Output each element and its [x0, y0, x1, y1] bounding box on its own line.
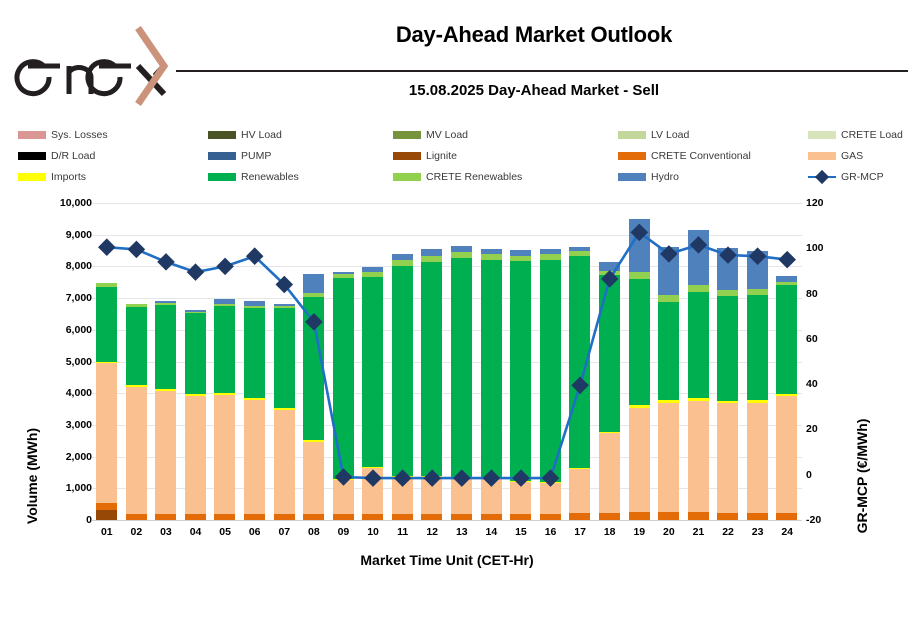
gr-mcp-marker[interactable] — [187, 263, 205, 281]
page-subtitle: 15.08.2025 Day-Ahead Market - Sell — [176, 82, 892, 99]
y2-axis-tick-label: -20 — [806, 514, 854, 526]
x-axis-tick-label: 11 — [388, 526, 418, 538]
x-axis-tick-label: 03 — [151, 526, 181, 538]
x-axis-tick-label: 24 — [772, 526, 802, 538]
legend-item-label: CRETE Conventional — [651, 150, 751, 162]
gridline — [92, 520, 802, 521]
x-axis-tick-label: 17 — [565, 526, 595, 538]
enex-logo — [14, 20, 174, 112]
legend-item-label: Imports — [51, 171, 86, 183]
legend-item-lv-load[interactable]: LV Load — [618, 126, 689, 143]
x-axis-tick-label: 02 — [122, 526, 152, 538]
gr-mcp-marker[interactable] — [778, 251, 796, 269]
y-axis-tick-label: 7,000 — [22, 292, 92, 304]
legend-item-lignite[interactable]: Lignite — [393, 147, 457, 164]
title-divider — [176, 70, 908, 72]
legend-item-sys-losses[interactable]: Sys. Losses — [18, 126, 108, 143]
gr-mcp-marker[interactable] — [483, 469, 501, 487]
y2-axis-tick-label: 120 — [806, 197, 854, 209]
legend-item-crete-load[interactable]: CRETE Load — [808, 126, 903, 143]
gr-mcp-marker[interactable] — [512, 469, 530, 487]
x-axis-label: Market Time Unit (CET-Hr) — [92, 552, 802, 568]
x-axis-tick-label: 07 — [270, 526, 300, 538]
y-axis-tick-label: 8,000 — [22, 260, 92, 272]
legend-item-label: GAS — [841, 150, 863, 162]
y-axis-tick-label: 5,000 — [22, 356, 92, 368]
x-axis-tick-label: 12 — [417, 526, 447, 538]
gr-mcp-marker[interactable] — [157, 253, 175, 271]
legend-item-gr-mcp[interactable]: GR-MCP — [808, 168, 884, 185]
legend-item-label: HV Load — [241, 129, 282, 141]
legend-item-label: D/R Load — [51, 150, 95, 162]
legend-line-marker-icon — [808, 172, 836, 182]
legend-item-imports[interactable]: Imports — [18, 168, 86, 185]
y-axis-tick-label: 9,000 — [22, 229, 92, 241]
gr-mcp-marker[interactable] — [216, 258, 234, 276]
y2-axis-label: GR-MCP (€/MWh) — [854, 326, 870, 626]
legend-item-pump[interactable]: PUMP — [208, 147, 271, 164]
page-title: Day-Ahead Market Outlook — [176, 22, 892, 48]
y-axis-tick-label: 4,000 — [22, 387, 92, 399]
x-axis-tick-label: 22 — [713, 526, 743, 538]
x-axis-tick-label: 21 — [684, 526, 714, 538]
legend-swatch-icon — [618, 152, 646, 160]
legend-item-label: CRETE Load — [841, 129, 903, 141]
gr-mcp-marker[interactable] — [128, 241, 146, 259]
y2-axis-tick-label: 80 — [806, 288, 854, 300]
legend-item-hv-load[interactable]: HV Load — [208, 126, 282, 143]
x-axis-tick-label: 13 — [447, 526, 477, 538]
gr-mcp-marker[interactable] — [98, 238, 116, 256]
legend-swatch-icon — [808, 131, 836, 139]
legend-item-d-r-load[interactable]: D/R Load — [18, 147, 95, 164]
legend-swatch-icon — [208, 131, 236, 139]
x-axis-tick-label: 19 — [625, 526, 655, 538]
y-axis-tick-label: 1,000 — [22, 482, 92, 494]
gr-mcp-marker[interactable] — [749, 247, 767, 265]
x-axis-tick-label: 18 — [595, 526, 625, 538]
legend-item-crete-renewables[interactable]: CRETE Renewables — [393, 168, 522, 185]
gr-mcp-marker[interactable] — [453, 469, 471, 487]
x-axis-tick-label: 06 — [240, 526, 270, 538]
legend-swatch-icon — [18, 131, 46, 139]
legend-item-renewables[interactable]: Renewables — [208, 168, 299, 185]
page-header: Day-Ahead Market Outlook 15.08.2025 Day-… — [0, 0, 908, 118]
y-axis-label: Volume (MWh) — [24, 326, 40, 626]
legend-swatch-icon — [393, 173, 421, 181]
x-axis-tick-label: 20 — [654, 526, 684, 538]
y2-axis-tick-label: 20 — [806, 423, 854, 435]
legend-item-mv-load[interactable]: MV Load — [393, 126, 468, 143]
legend-item-gas[interactable]: GAS — [808, 147, 863, 164]
x-axis-tick-label: 23 — [743, 526, 773, 538]
legend-item-label: CRETE Renewables — [426, 171, 522, 183]
y2-axis-tick-label: 60 — [806, 333, 854, 345]
gr-mcp-marker[interactable] — [423, 469, 441, 487]
legend-item-label: Renewables — [241, 171, 299, 183]
legend-swatch-icon — [618, 131, 646, 139]
y2-axis-tick-label: 0 — [806, 469, 854, 481]
y-axis-tick-label: 3,000 — [22, 419, 92, 431]
y-axis-tick-label: 6,000 — [22, 324, 92, 336]
legend-item-label: MV Load — [426, 129, 468, 141]
gr-mcp-marker[interactable] — [542, 469, 560, 487]
legend-swatch-icon — [18, 152, 46, 160]
x-axis-tick-label: 15 — [506, 526, 536, 538]
x-axis-tick-label: 09 — [329, 526, 359, 538]
x-axis-tick-label: 14 — [477, 526, 507, 538]
gr-mcp-line — [107, 232, 787, 478]
chart-plot-area: Volume (MWh) GR-MCP (€/MWh) 01,0002,0003… — [0, 190, 908, 540]
legend-item-label: Lignite — [426, 150, 457, 162]
gr-mcp-marker[interactable] — [601, 270, 619, 288]
legend-swatch-icon — [808, 152, 836, 160]
legend-swatch-icon — [393, 152, 421, 160]
gr-mcp-marker[interactable] — [335, 468, 353, 486]
y2-axis-tick-label: 100 — [806, 242, 854, 254]
legend-item-label: Hydro — [651, 171, 679, 183]
gr-mcp-line-series — [92, 190, 802, 520]
legend-swatch-icon — [618, 173, 646, 181]
legend-item-crete-conventional[interactable]: CRETE Conventional — [618, 147, 751, 164]
x-axis-tick-label: 10 — [358, 526, 388, 538]
legend-swatch-icon — [208, 173, 236, 181]
gr-mcp-marker[interactable] — [719, 246, 737, 264]
legend-item-label: Sys. Losses — [51, 129, 108, 141]
x-axis-tick-label: 16 — [536, 526, 566, 538]
y2-axis-tick-label: 40 — [806, 378, 854, 390]
gr-mcp-marker[interactable] — [690, 236, 708, 254]
gr-mcp-marker[interactable] — [364, 469, 382, 487]
x-axis-tick-label: 01 — [92, 526, 122, 538]
gr-mcp-marker[interactable] — [660, 245, 678, 263]
x-axis-tick-label: 05 — [210, 526, 240, 538]
legend-swatch-icon — [18, 173, 46, 181]
chart-legend: Sys. LossesHV LoadMV LoadLV LoadCRETE Lo… — [18, 126, 898, 182]
legend-item-label: LV Load — [651, 129, 689, 141]
x-axis-tick-label: 04 — [181, 526, 211, 538]
gr-mcp-marker[interactable] — [631, 224, 649, 242]
x-axis-tick-label: 08 — [299, 526, 329, 538]
legend-swatch-icon — [208, 152, 236, 160]
gr-mcp-marker[interactable] — [571, 377, 589, 395]
legend-item-label: PUMP — [241, 150, 271, 162]
legend-swatch-icon — [393, 131, 421, 139]
y-axis-tick-label: 0 — [22, 514, 92, 526]
enex-logo-icon — [14, 20, 174, 112]
y-axis-tick-label: 2,000 — [22, 451, 92, 463]
gr-mcp-marker[interactable] — [394, 469, 412, 487]
y-axis-tick-label: 10,000 — [22, 197, 92, 209]
legend-item-label: GR-MCP — [841, 171, 884, 183]
legend-item-hydro[interactable]: Hydro — [618, 168, 679, 185]
